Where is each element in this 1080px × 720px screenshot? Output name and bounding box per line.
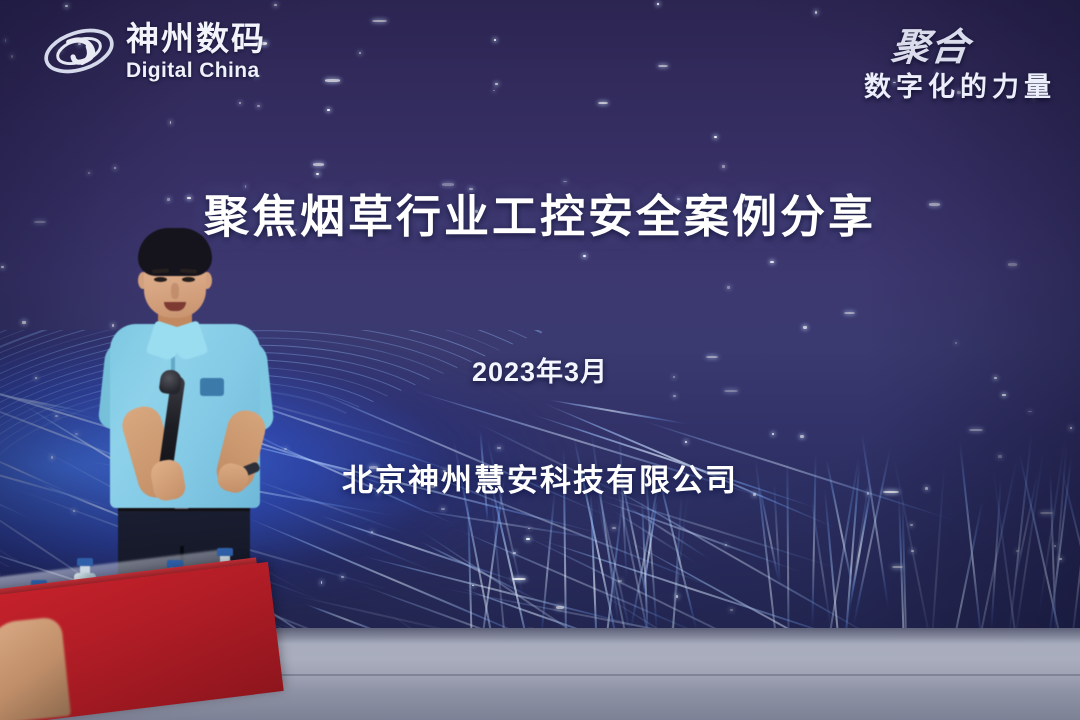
bottle-cap — [77, 558, 93, 566]
digital-china-wordmark: 神州数码 Digital China — [126, 22, 266, 81]
speaker-eye-right — [182, 277, 195, 282]
bottle-neck — [80, 566, 90, 573]
event-logo: 聚合 数字化的力量 — [864, 16, 1056, 104]
digital-china-logo: 神州数码 Digital China — [42, 20, 266, 82]
bottle-cap — [217, 548, 233, 556]
digital-china-swirl-icon — [42, 20, 116, 82]
microphone-head — [158, 369, 182, 396]
speaker-eye-left — [154, 277, 167, 282]
seated-attendee — [0, 616, 71, 720]
conference-stage-photo: 神州数码 Digital China 聚合 数字化的力量 聚焦烟草行业工控安全案… — [0, 0, 1080, 720]
brand-english-name: Digital China — [126, 60, 266, 81]
event-calligraphy-title: 聚合 — [861, 16, 973, 71]
brand-chinese-name: 神州数码 — [126, 22, 266, 55]
speaker-nose — [171, 283, 179, 299]
speaker-hair — [138, 228, 212, 276]
speaker-chest-logo — [200, 378, 224, 396]
